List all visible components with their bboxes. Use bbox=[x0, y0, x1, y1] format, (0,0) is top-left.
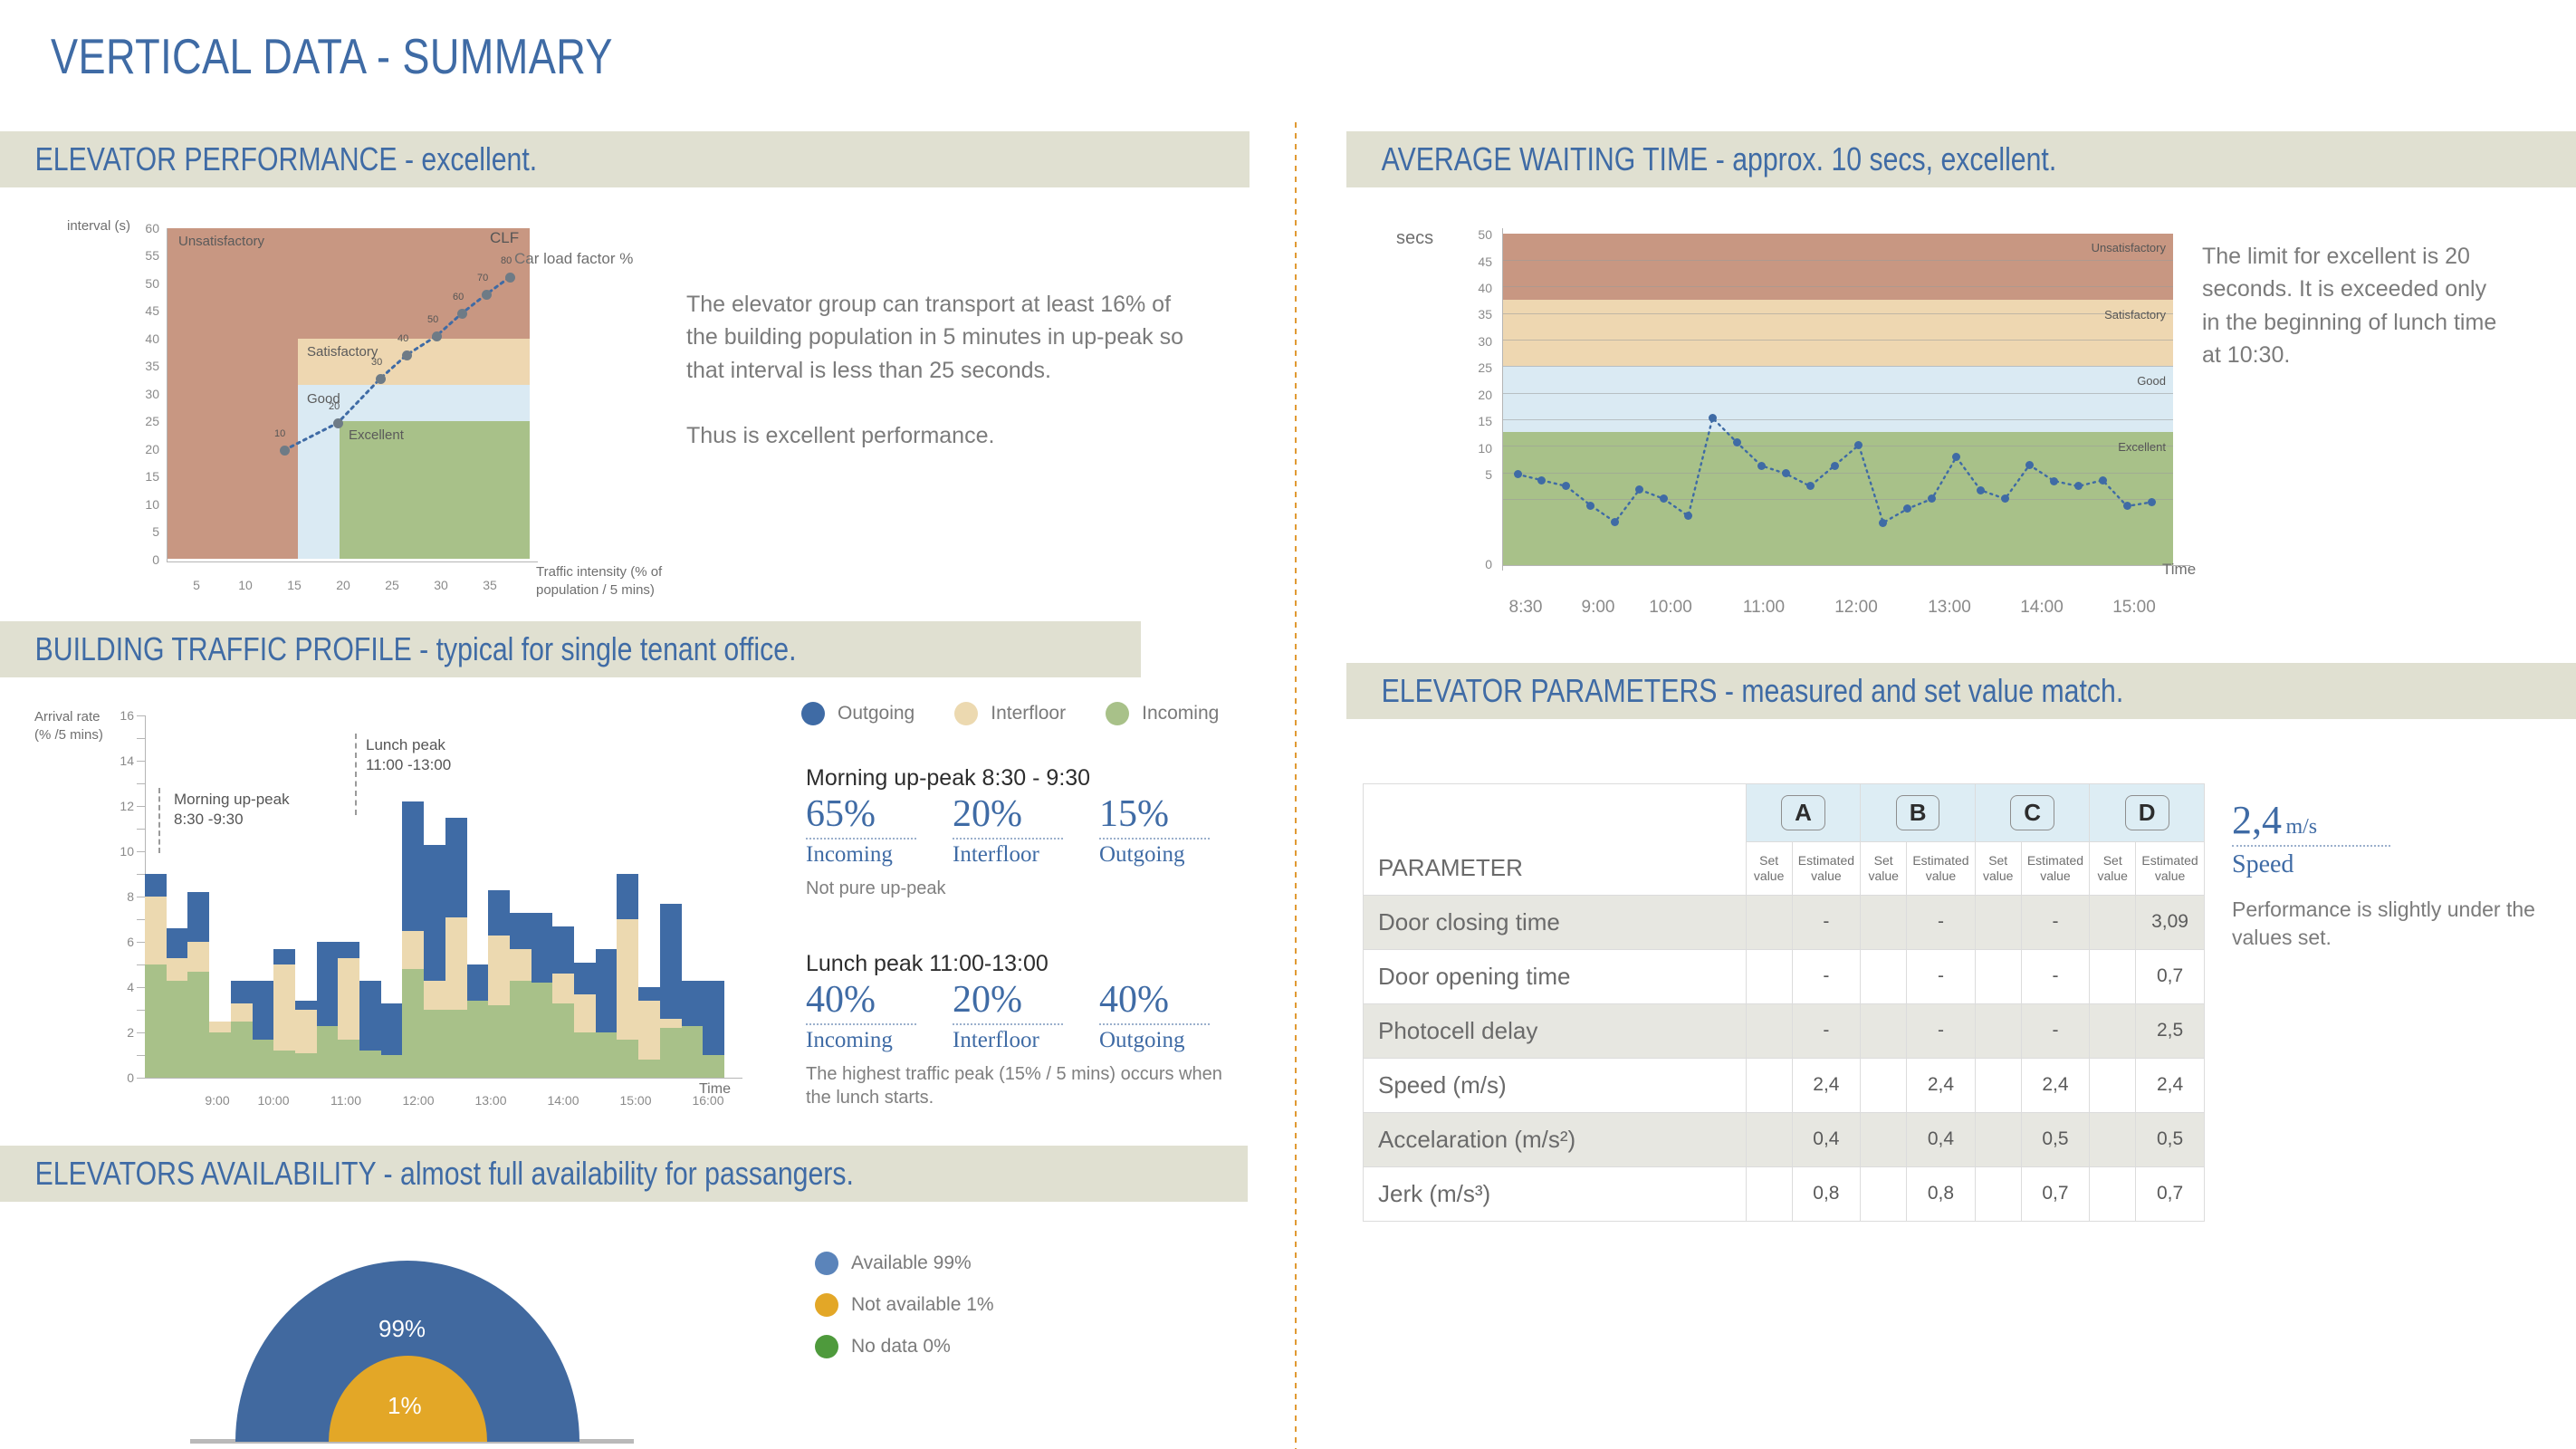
traffic-bar-segment-incoming bbox=[617, 1040, 638, 1079]
band-elevator-parameters: ELEVATOR PARAMETERS - measured and set v… bbox=[1346, 663, 2576, 719]
legend-swatch-no-data bbox=[815, 1335, 838, 1358]
traffic-bar-segment-outgoing bbox=[682, 981, 704, 1026]
traffic-ytick-mark bbox=[137, 919, 145, 920]
traffic-bar-segment-incoming bbox=[445, 1010, 467, 1078]
traffic-bar bbox=[467, 964, 489, 1078]
perf-ylabel: interval (s) bbox=[67, 217, 130, 235]
table-row: Door closing time---3,09 bbox=[1364, 895, 2205, 949]
wait-data-point bbox=[1879, 519, 1887, 527]
traffic-ytick-mark bbox=[137, 1078, 145, 1079]
dome-label-not-available: 1% bbox=[388, 1392, 422, 1420]
perf-ytick: 50 bbox=[127, 276, 159, 291]
traffic-xtick: 12:00 bbox=[391, 1093, 445, 1108]
table-cell-value bbox=[1975, 1003, 2021, 1058]
traffic-bar-segment-interfloor bbox=[445, 917, 467, 1011]
traffic-bar bbox=[703, 981, 724, 1079]
perf-xtick: 10 bbox=[235, 578, 256, 592]
annotation-lunch-peak: Lunch peak 11:00 -13:00 bbox=[366, 735, 451, 775]
traffic-ytick-mark bbox=[137, 897, 145, 897]
perf-xtick: 15 bbox=[283, 578, 305, 592]
table-cell-value: - bbox=[2021, 949, 2090, 1003]
perf-xtick: 35 bbox=[479, 578, 501, 592]
traffic-bar-segment-incoming bbox=[295, 1053, 317, 1079]
table-group-header-row: PARAMETER A B C D bbox=[1364, 784, 2205, 842]
traffic-bar bbox=[231, 981, 253, 1079]
table-cell-value bbox=[1861, 1166, 1907, 1221]
group-chip-a[interactable]: A bbox=[1781, 795, 1825, 830]
perf-xtick: 25 bbox=[381, 578, 403, 592]
kpi-rule bbox=[1099, 1023, 1210, 1025]
wait-data-point bbox=[2025, 461, 2034, 469]
traffic-bar bbox=[317, 942, 339, 1078]
data-point bbox=[402, 350, 412, 360]
kpi-value: 40% bbox=[1099, 981, 1210, 1020]
traffic-bar-segment-incoming bbox=[552, 1003, 574, 1079]
traffic-bar-segment-interfloor bbox=[617, 919, 638, 1040]
traffic-xtick: 10:00 bbox=[246, 1093, 301, 1108]
table-cell-value: 0,5 bbox=[2021, 1112, 2090, 1166]
traffic-ytick-mark bbox=[137, 738, 145, 739]
traffic-bar-segment-incoming bbox=[402, 969, 424, 1078]
perf-xtick: 5 bbox=[186, 578, 207, 592]
traffic-ytick-mark bbox=[137, 761, 145, 762]
group-header-b: B bbox=[1861, 784, 1976, 842]
traffic-ytick: 2 bbox=[107, 1025, 134, 1040]
traffic-bar-segment-interfloor bbox=[402, 931, 424, 970]
wait-data-point bbox=[2050, 477, 2058, 485]
table-row-header: PARAMETER bbox=[1364, 784, 1747, 896]
table-row: Accelaration (m/s²)0,40,40,50,5 bbox=[1364, 1112, 2205, 1166]
perf-xtick: 20 bbox=[332, 578, 354, 592]
traffic-bar-segment-outgoing bbox=[510, 913, 531, 949]
kpi-caption: Interfloor bbox=[953, 842, 1063, 868]
traffic-bar-segment-interfloor bbox=[209, 1022, 231, 1033]
table-cell-value bbox=[1746, 895, 1792, 949]
perf-ytick: 5 bbox=[127, 524, 159, 539]
traffic-ytick-mark bbox=[137, 874, 145, 875]
band-title-waiting: AVERAGE WAITING TIME - approx. 10 secs, … bbox=[1346, 140, 2056, 178]
traffic-bar-segment-incoming bbox=[574, 1032, 596, 1078]
table-cell-parameter-name: Accelaration (m/s²) bbox=[1364, 1112, 1747, 1166]
group-header-c: C bbox=[1975, 784, 2090, 842]
page-title: VERTICAL DATA - SUMMARY bbox=[51, 27, 613, 85]
wait-ytick: 40 bbox=[1452, 281, 1492, 295]
band-building-traffic: BUILDING TRAFFIC PROFILE - typical for s… bbox=[0, 621, 1141, 677]
point-label: 30 bbox=[371, 357, 382, 368]
legend-label-no-data: No data 0% bbox=[851, 1336, 951, 1358]
kpi-lunch-incoming: 40% Incoming bbox=[806, 981, 916, 1053]
table-cell-value: 2,4 bbox=[2136, 1058, 2205, 1112]
table-cell-value: 0,7 bbox=[2136, 1166, 2205, 1221]
table-cell-value: 0,4 bbox=[1907, 1112, 1976, 1166]
traffic-xtick: 11:00 bbox=[319, 1093, 373, 1108]
table-cell-value: 2,4 bbox=[2021, 1058, 2090, 1112]
table-cell-value bbox=[1975, 1112, 2021, 1166]
traffic-bar-segment-outgoing bbox=[531, 913, 553, 984]
wait-xtick: 10:00 bbox=[1639, 598, 1702, 618]
group-chip-b[interactable]: B bbox=[1896, 795, 1940, 830]
traffic-bar-segment-incoming bbox=[317, 1026, 339, 1079]
traffic-xtick: 9:00 bbox=[190, 1093, 244, 1108]
traffic-bar-segment-interfloor bbox=[295, 1010, 317, 1053]
table-cell-value: 0,5 bbox=[2136, 1112, 2205, 1166]
wait-data-point bbox=[1831, 462, 1839, 470]
traffic-bar-segment-incoming bbox=[510, 981, 531, 1079]
traffic-bar-segment-incoming bbox=[424, 1010, 445, 1078]
wait-ytick: 25 bbox=[1452, 360, 1492, 375]
kpi-note-morning: Not pure up-peak bbox=[806, 877, 1210, 900]
traffic-ytick: 10 bbox=[107, 844, 134, 859]
series-label-clf: CLF bbox=[490, 229, 519, 247]
traffic-bar bbox=[638, 987, 660, 1078]
traffic-bar-segment-outgoing bbox=[359, 981, 381, 1051]
kpi-morning-interfloor: 20% Interfloor bbox=[953, 795, 1063, 868]
table-cell-value: - bbox=[2021, 895, 2090, 949]
kpi-note-lunch: The highest traffic peak (15% / 5 mins) … bbox=[806, 1062, 1231, 1109]
traffic-bar-segment-outgoing bbox=[467, 964, 489, 1001]
traffic-ytick: 4 bbox=[107, 980, 134, 994]
point-label: 60 bbox=[453, 292, 464, 302]
traffic-bar-segment-incoming bbox=[703, 1055, 724, 1078]
traffic-bar-segment-interfloor bbox=[660, 1019, 682, 1028]
slide-root: VERTICAL DATA - SUMMARY ELEVATOR PERFORM… bbox=[0, 0, 2576, 1449]
table-cell-value bbox=[1861, 1058, 1907, 1112]
group-header-d: D bbox=[2090, 784, 2205, 842]
traffic-bar-segment-incoming bbox=[638, 1060, 660, 1078]
table-cell-value bbox=[2090, 1112, 2136, 1166]
wait-series-line bbox=[1503, 234, 2173, 565]
legend-label-interfloor: Interfloor bbox=[991, 703, 1066, 724]
traffic-bar bbox=[295, 1001, 317, 1078]
wait-ytick: 50 bbox=[1452, 227, 1492, 242]
perf-ytick: 20 bbox=[127, 442, 159, 456]
legend-swatch-available bbox=[815, 1252, 838, 1275]
perf-ytick: 45 bbox=[127, 303, 159, 318]
kpi-morning-outgoing: 15% Outgoing bbox=[1099, 795, 1210, 868]
table-cell-value bbox=[2090, 1058, 2136, 1112]
traffic-xtick: 14:00 bbox=[536, 1093, 590, 1108]
table-cell-value: 3,09 bbox=[2136, 895, 2205, 949]
elevator-parameters-table: PARAMETER A B C D Set value Estimated va… bbox=[1363, 783, 2205, 1222]
traffic-bar-segment-incoming bbox=[531, 983, 553, 1078]
table-cell-parameter-name: Door closing time bbox=[1364, 895, 1747, 949]
kpi-value: 20% bbox=[953, 795, 1063, 834]
kpi-rule bbox=[953, 838, 1063, 840]
subheader-estimated-value: Estimated value bbox=[1792, 842, 1861, 896]
traffic-bar-segment-interfloor bbox=[510, 949, 531, 981]
traffic-ytick: 0 bbox=[107, 1070, 134, 1085]
traffic-bar-segment-outgoing bbox=[273, 949, 295, 965]
data-point bbox=[505, 273, 515, 283]
traffic-bar bbox=[682, 981, 704, 1079]
table-row: Jerk (m/s³)0,80,80,70,7 bbox=[1364, 1166, 2205, 1221]
wait-data-point bbox=[1514, 470, 1522, 478]
traffic-bar bbox=[617, 874, 638, 1078]
traffic-bar-segment-incoming bbox=[145, 964, 167, 1078]
elevators-availability-chart: 99% 1% bbox=[181, 1259, 634, 1449]
traffic-bar-segment-interfloor bbox=[638, 1001, 660, 1060]
legend-swatch-incoming bbox=[1106, 702, 1129, 725]
band-average-waiting-time: AVERAGE WAITING TIME - approx. 10 secs, … bbox=[1346, 131, 2576, 187]
band-title-availability: ELEVATORS AVAILABILITY - almost full ava… bbox=[0, 1155, 854, 1193]
data-point bbox=[280, 446, 290, 456]
traffic-ytick: 8 bbox=[107, 889, 134, 904]
average-waiting-time-chart: Unsatisfactory Satisfactory Good Excelle… bbox=[1503, 234, 2173, 565]
kpi-value: 20% bbox=[953, 981, 1063, 1020]
group-chip-d[interactable]: D bbox=[2125, 795, 2169, 830]
traffic-ytick-mark bbox=[137, 964, 145, 965]
kpi-rule bbox=[953, 1023, 1063, 1025]
traffic-legend: Outgoing Interfloor Incoming bbox=[801, 702, 1219, 725]
table-cell-value: - bbox=[1792, 949, 1861, 1003]
perf-ytick: 10 bbox=[127, 497, 159, 512]
traffic-bar bbox=[209, 1022, 231, 1079]
legend-item-outgoing: Outgoing bbox=[801, 702, 915, 725]
traffic-bar-segment-interfloor bbox=[488, 936, 510, 1006]
wait-data-point bbox=[1586, 502, 1594, 510]
traffic-bar bbox=[531, 913, 553, 1079]
table-cell-value bbox=[1975, 1166, 2021, 1221]
table-cell-parameter-name: Speed (m/s) bbox=[1364, 1058, 1747, 1112]
band-elevator-performance: ELEVATOR PERFORMANCE - excellent. bbox=[0, 131, 1250, 187]
subheader-set-value: Set value bbox=[1746, 842, 1792, 896]
group-header-a: A bbox=[1746, 784, 1861, 842]
perf-ytick: 25 bbox=[127, 414, 159, 428]
traffic-x-axis bbox=[145, 1078, 742, 1079]
traffic-bar-segment-outgoing bbox=[167, 928, 188, 958]
table-cell-value: - bbox=[2021, 1003, 2090, 1058]
legend-swatch-outgoing bbox=[801, 702, 825, 725]
point-label: 50 bbox=[427, 314, 438, 325]
perf-ytick: 0 bbox=[127, 552, 159, 567]
wait-xtick: 11:00 bbox=[1732, 598, 1796, 618]
traffic-bar bbox=[445, 818, 467, 1079]
group-chip-c[interactable]: C bbox=[2010, 795, 2054, 830]
traffic-bar-segment-outgoing bbox=[596, 949, 618, 1033]
table-cell-value bbox=[1746, 1166, 1792, 1221]
data-point bbox=[457, 309, 467, 319]
traffic-xlabel: Time bbox=[699, 1080, 731, 1099]
traffic-ytick: 6 bbox=[107, 935, 134, 949]
traffic-bar-segment-outgoing bbox=[617, 874, 638, 919]
annotation-leader-lunch bbox=[355, 734, 357, 815]
traffic-bar bbox=[552, 926, 574, 1079]
wait-xtick: 8:30 bbox=[1494, 598, 1557, 618]
subheader-estimated-value: Estimated value bbox=[2021, 842, 2090, 896]
annotation-leader-morning bbox=[158, 788, 160, 853]
legend-item-no-data: No data 0% bbox=[815, 1335, 994, 1358]
kpi-value: 15% bbox=[1099, 795, 1210, 834]
speed-note: Performance is slightly under the values… bbox=[2232, 896, 2540, 952]
kpi-lunch-outgoing: 40% Outgoing bbox=[1099, 981, 1210, 1053]
legend-label-outgoing: Outgoing bbox=[838, 703, 915, 724]
data-point bbox=[432, 331, 442, 341]
legend-swatch-not-available bbox=[815, 1293, 838, 1317]
subheader-set-value: Set value bbox=[1861, 842, 1907, 896]
traffic-ytick: 12 bbox=[107, 799, 134, 813]
wait-ytick: 0 bbox=[1452, 557, 1492, 571]
table-cell-value bbox=[1746, 1003, 1792, 1058]
kpi-block-morning: Morning up-peak 8:30 - 9:30 65% Incoming… bbox=[806, 765, 1210, 900]
table-cell-value: - bbox=[1792, 895, 1861, 949]
table-cell-value bbox=[1746, 1058, 1792, 1112]
traffic-bar-segment-outgoing bbox=[638, 987, 660, 1001]
perf-ytick: 35 bbox=[127, 359, 159, 373]
traffic-bar-segment-interfloor bbox=[552, 974, 574, 1003]
traffic-bar bbox=[167, 928, 188, 1078]
traffic-ytick-mark bbox=[137, 715, 145, 716]
traffic-bar-segment-outgoing bbox=[253, 981, 274, 1040]
wait-data-point bbox=[2123, 502, 2131, 510]
table-cell-value bbox=[1861, 895, 1907, 949]
traffic-bar-segment-interfloor bbox=[145, 897, 167, 964]
traffic-ytick-mark bbox=[137, 1010, 145, 1011]
wait-xtick: 15:00 bbox=[2102, 598, 2166, 618]
perf-xlabel: Traffic intensity (% of population / 5 m… bbox=[536, 563, 690, 600]
table-cell-value bbox=[1861, 1003, 1907, 1058]
traffic-bar-segment-incoming bbox=[209, 1032, 231, 1078]
kpi-caption: Incoming bbox=[806, 842, 916, 868]
table-cell-value bbox=[1975, 1058, 2021, 1112]
traffic-ytick-mark bbox=[137, 1055, 145, 1056]
table-cell-value: 0,7 bbox=[2136, 949, 2205, 1003]
perf-clf-note: Car load factor % bbox=[514, 249, 633, 270]
kpi-caption: Outgoing bbox=[1099, 1028, 1210, 1053]
table-cell-value: 2,4 bbox=[1907, 1058, 1976, 1112]
wait-data-point bbox=[1709, 414, 1717, 422]
table-cell-parameter-name: Jerk (m/s³) bbox=[1364, 1166, 1747, 1221]
perf-ytick: 55 bbox=[127, 248, 159, 263]
traffic-bar-segment-interfloor bbox=[187, 942, 209, 972]
traffic-bar bbox=[145, 874, 167, 1078]
table-cell-value: 0,7 bbox=[2021, 1166, 2090, 1221]
traffic-bar-segment-incoming bbox=[273, 1051, 295, 1078]
traffic-bar bbox=[660, 904, 682, 1079]
legend-label-available: Available 99% bbox=[851, 1252, 972, 1274]
table-cell-value bbox=[2090, 895, 2136, 949]
kpi-heading-morning: Morning up-peak 8:30 - 9:30 bbox=[806, 765, 1210, 792]
traffic-bar-segment-outgoing bbox=[381, 1003, 403, 1056]
traffic-bar-segment-interfloor bbox=[273, 964, 295, 1051]
table-row: Door opening time---0,7 bbox=[1364, 949, 2205, 1003]
speed-highlight: 2,4 m/s Speed Performance is slightly un… bbox=[2232, 797, 2540, 952]
data-point bbox=[333, 418, 343, 428]
wait-xlabel: Time bbox=[2162, 560, 2196, 581]
traffic-bar bbox=[574, 963, 596, 1079]
traffic-bar-segment-outgoing bbox=[145, 874, 167, 897]
perf-ytick: 15 bbox=[127, 469, 159, 484]
table-cell-parameter-name: Photocell delay bbox=[1364, 1003, 1747, 1058]
traffic-bar-segment-outgoing bbox=[424, 845, 445, 981]
traffic-ytick-mark bbox=[137, 1032, 145, 1033]
traffic-ytick-mark bbox=[137, 942, 145, 943]
traffic-bar-segment-incoming bbox=[488, 1005, 510, 1078]
traffic-bar-segment-outgoing bbox=[187, 892, 209, 942]
band-elevators-availability: ELEVATORS AVAILABILITY - almost full ava… bbox=[0, 1146, 1248, 1202]
kpi-rule bbox=[1099, 838, 1210, 840]
legend-item-incoming: Incoming bbox=[1106, 702, 1219, 725]
wait-ytick: 10 bbox=[1452, 441, 1492, 456]
kpi-lunch-interfloor: 20% Interfloor bbox=[953, 981, 1063, 1053]
table-cell-value bbox=[2090, 1003, 2136, 1058]
legend-item-interfloor: Interfloor bbox=[954, 702, 1066, 725]
wait-ylabel: secs bbox=[1396, 226, 1433, 251]
kpi-caption: Outgoing bbox=[1099, 842, 1210, 868]
wait-xtick: 9:00 bbox=[1566, 598, 1630, 618]
kpi-caption: Incoming bbox=[806, 1028, 916, 1053]
traffic-bar-segment-incoming bbox=[338, 1040, 359, 1079]
legend-label-not-available: Not available 1% bbox=[851, 1294, 994, 1316]
elevator-performance-chart: Unsatisfactory Satisfactory Good Excelle… bbox=[168, 228, 530, 559]
traffic-ytick: 14 bbox=[107, 753, 134, 768]
traffic-bar bbox=[338, 942, 359, 1078]
traffic-bar-segment-incoming bbox=[359, 1051, 381, 1078]
traffic-bar bbox=[488, 890, 510, 1079]
table-cell-value bbox=[1975, 949, 2021, 1003]
table-cell-value bbox=[1975, 895, 2021, 949]
point-label: 80 bbox=[501, 255, 512, 266]
table-cell-value: 0,8 bbox=[1907, 1166, 1976, 1221]
perf-ytick: 40 bbox=[127, 331, 159, 346]
subheader-estimated-value: Estimated value bbox=[1907, 842, 1976, 896]
traffic-bar-segment-outgoing bbox=[402, 801, 424, 931]
kpi-value: 40% bbox=[806, 981, 916, 1020]
legend-item-not-available: Not available 1% bbox=[815, 1293, 994, 1317]
point-label: 70 bbox=[477, 273, 488, 283]
traffic-bar-segment-incoming bbox=[467, 1001, 489, 1078]
traffic-bar-segment-outgoing bbox=[660, 904, 682, 1020]
traffic-bar-segment-incoming bbox=[187, 972, 209, 1079]
wait-y-axis bbox=[1502, 228, 1503, 571]
wait-x-axis bbox=[1502, 565, 2190, 566]
traffic-ytick-mark bbox=[137, 851, 145, 852]
legend-item-available: Available 99% bbox=[815, 1252, 994, 1275]
perf-ytick: 30 bbox=[127, 387, 159, 401]
table-row: Photocell delay---2,5 bbox=[1364, 1003, 2205, 1058]
wait-data-point bbox=[2148, 498, 2156, 506]
kpi-block-lunch: Lunch peak 11:00-13:00 40% Incoming 20% … bbox=[806, 951, 1231, 1109]
traffic-bar bbox=[273, 949, 295, 1079]
traffic-bar-segment-interfloor bbox=[167, 958, 188, 981]
legend-swatch-interfloor bbox=[954, 702, 978, 725]
traffic-ytick-mark bbox=[137, 783, 145, 784]
wait-xtick: 14:00 bbox=[2010, 598, 2073, 618]
subheader-set-value: Set value bbox=[1975, 842, 2021, 896]
table-cell-value: 0,4 bbox=[1792, 1112, 1861, 1166]
point-label: 40 bbox=[397, 333, 408, 344]
wait-ytick: 5 bbox=[1452, 467, 1492, 482]
kpi-rule bbox=[806, 1023, 916, 1025]
traffic-bar-segment-outgoing bbox=[488, 890, 510, 936]
band-title-traffic: BUILDING TRAFFIC PROFILE - typical for s… bbox=[0, 630, 796, 668]
traffic-bar bbox=[187, 892, 209, 1078]
table-cell-value bbox=[1861, 949, 1907, 1003]
perf-trend-line bbox=[168, 228, 530, 559]
traffic-bar bbox=[381, 1003, 403, 1079]
traffic-xtick: 15:00 bbox=[608, 1093, 663, 1108]
table-cell-value: - bbox=[1907, 1003, 1976, 1058]
wait-xtick: 12:00 bbox=[1824, 598, 1888, 618]
wait-data-point bbox=[1757, 462, 1766, 470]
traffic-bar-segment-interfloor bbox=[424, 981, 445, 1011]
wait-data-point bbox=[1977, 486, 1985, 494]
traffic-xtick: 13:00 bbox=[464, 1093, 518, 1108]
table-cell-value bbox=[1746, 949, 1792, 1003]
traffic-bar-segment-outgoing bbox=[703, 981, 724, 1056]
speed-value: 2,4 bbox=[2232, 798, 2282, 842]
traffic-bar-segment-incoming bbox=[381, 1055, 403, 1078]
traffic-bar-segment-incoming bbox=[231, 1022, 253, 1079]
